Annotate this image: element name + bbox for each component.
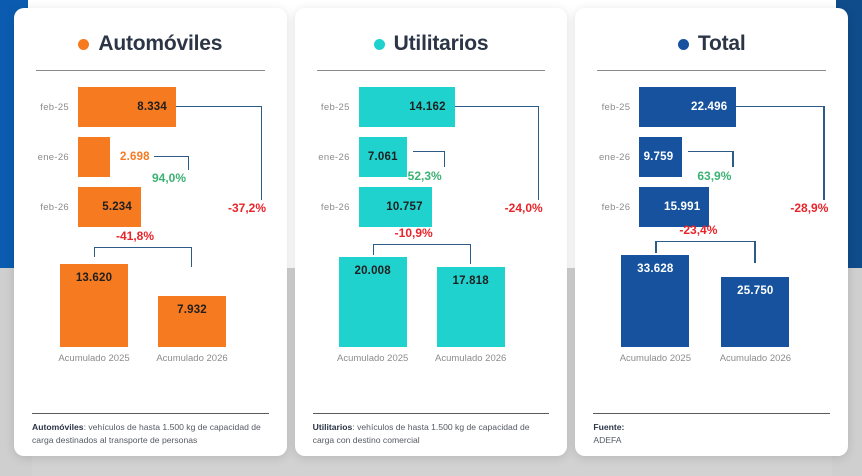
table-row: feb-25 8.334 [32, 87, 176, 127]
connector-line-inner-horizontal [413, 151, 445, 152]
vbar-value: 25.750 [737, 285, 773, 297]
header-divider [36, 70, 265, 71]
hbar-category-label: feb-26 [593, 202, 639, 213]
connector-line-inner-vertical [444, 151, 445, 167]
vbar-value: 17.818 [452, 275, 488, 287]
connector-line-outer-vertical [538, 106, 539, 200]
table-row: feb-26 15.991 [593, 187, 709, 227]
hbar-category-label: feb-25 [313, 102, 359, 113]
footer-spacer [593, 369, 830, 413]
vbar-category-label: Acumulado 2025 [620, 353, 691, 364]
footnote-term: Utilitarios [313, 422, 353, 432]
vbar-category-label: Acumulado 2026 [435, 353, 506, 364]
bullet-dot-icon [78, 39, 89, 50]
vbar-acumulado-2025[interactable]: 13.620 Acumulado 2025 [60, 264, 128, 347]
table-row: ene-26 9.759 [593, 137, 682, 177]
hbar-category-label: ene-26 [593, 152, 639, 163]
hbar-value: 7.061 [368, 151, 398, 163]
footnote-automoviles: Automóviles: vehículos de hasta 1.500 kg… [32, 421, 269, 446]
vbar-acumulado-2025[interactable]: 20.008 Acumulado 2025 [339, 257, 407, 347]
card-header-utilitarios: Utilitarios [313, 22, 550, 66]
connector-line-inner-horizontal [688, 151, 733, 152]
hbar-category-label: feb-25 [593, 102, 639, 113]
hbar-ene-26[interactable]: 2.698 [78, 137, 110, 177]
hbar-feb-26[interactable]: 15.991 [639, 187, 709, 227]
vbar-category-label: Acumulado 2026 [156, 353, 227, 364]
connector-line-outer-vertical [823, 106, 824, 200]
percent-badge-outer: -28,9% [790, 201, 828, 215]
bracket-right-stem [470, 244, 471, 264]
hbar-feb-26[interactable]: 5.234 [78, 187, 141, 227]
page-title: Total [698, 32, 746, 56]
bracket-right-stem [754, 241, 755, 263]
percent-badge-acumulado: -23,4% [679, 223, 717, 237]
vbar-rect: 17.818 [437, 267, 505, 347]
percent-badge-outer: -37,2% [228, 201, 266, 215]
hbar-value: 10.757 [386, 201, 422, 213]
header-divider [317, 70, 546, 71]
hbar-category-label: feb-26 [32, 202, 78, 213]
hbar-ene-26[interactable]: 7.061 [359, 137, 407, 177]
hbar-value: 15.991 [664, 201, 700, 213]
table-row: ene-26 2.698 [32, 137, 110, 177]
percent-badge-outer: -24,0% [505, 201, 543, 215]
table-row: feb-26 10.757 [313, 187, 432, 227]
percent-badge-acumulado: -41,8% [116, 229, 154, 243]
vertical-bar-chart-total: 33.628 Acumulado 2025 25.750 Acumulado 2… [593, 239, 830, 369]
vbar-rect: 25.750 [721, 277, 789, 347]
bracket-left-stem [655, 241, 656, 253]
vbar-category-label: Acumulado 2025 [337, 353, 408, 364]
vbar-acumulado-2026[interactable]: 25.750 Acumulado 2026 [721, 277, 789, 347]
connector-line-outer-horizontal [176, 106, 262, 107]
table-row: feb-25 22.496 [593, 87, 736, 127]
horizontal-bar-chart-utilitarios: feb-25 14.162 ene-26 7.061 feb-26 10.757… [313, 83, 550, 231]
bracket-top-line [94, 247, 192, 248]
footnote-utilitarios: Utilitarios: vehículos de hasta 1.500 kg… [313, 421, 550, 446]
hbar-feb-26[interactable]: 10.757 [359, 187, 432, 227]
bracket-left-stem [373, 244, 374, 255]
page-title: Utilitarios [394, 32, 489, 56]
page-title: Automóviles [98, 32, 222, 56]
connector-line-outer-horizontal [736, 106, 824, 107]
bullet-dot-icon [678, 39, 689, 50]
connector-line-inner-vertical [188, 156, 189, 170]
table-row: feb-25 14.162 [313, 87, 455, 127]
vbar-value: 13.620 [76, 272, 112, 284]
hbar-value: 22.496 [691, 101, 727, 113]
connector-line-outer-vertical [261, 106, 262, 200]
bracket-left-stem [94, 247, 95, 257]
vbar-rect: 7.932 [158, 296, 226, 347]
bracket-right-stem [191, 247, 192, 267]
hbar-value: 9.759 [644, 151, 674, 163]
hbar-category-label: feb-25 [32, 102, 78, 113]
bullet-dot-icon [374, 39, 385, 50]
hbar-feb-25[interactable]: 14.162 [359, 87, 455, 127]
hbar-category-label: ene-26 [32, 152, 78, 163]
card-header-automoviles: Automóviles [32, 22, 269, 66]
hbar-category-label: feb-26 [313, 202, 359, 213]
card-total: Total feb-25 22.496 ene-26 9.759 feb-26 … [575, 8, 848, 456]
hbar-value: 14.162 [409, 101, 445, 113]
vbar-rect: 20.008 [339, 257, 407, 347]
vbar-acumulado-2026[interactable]: 17.818 Acumulado 2026 [437, 267, 505, 347]
vbar-acumulado-2026[interactable]: 7.932 Acumulado 2026 [158, 296, 226, 347]
percent-badge-inner: 52,3% [408, 169, 442, 183]
hbar-feb-25[interactable]: 22.496 [639, 87, 736, 127]
hbar-value: 8.334 [137, 101, 167, 113]
cards-container: Automóviles feb-25 8.334 ene-26 2.698 fe… [0, 0, 862, 476]
bracket-top-line [655, 241, 755, 242]
vbar-value: 7.932 [177, 304, 207, 316]
horizontal-bar-chart-automoviles: feb-25 8.334 ene-26 2.698 feb-26 5.234 [32, 83, 269, 231]
footer-divider [32, 413, 269, 414]
hbar-value: 2.698 [120, 151, 150, 163]
vertical-bar-chart-utilitarios: 20.008 Acumulado 2025 17.818 Acumulado 2… [313, 239, 550, 369]
hbar-ene-26[interactable]: 9.759 [639, 137, 682, 177]
percent-badge-acumulado: -10,9% [395, 226, 433, 240]
connector-line-inner-vertical [732, 151, 733, 167]
hbar-category-label: ene-26 [313, 152, 359, 163]
connector-line-outer-horizontal [455, 106, 539, 107]
vbar-value: 33.628 [637, 263, 673, 275]
footnote-term: Fuente: [593, 422, 624, 432]
header-divider [597, 70, 826, 71]
footnote-total: Fuente: ADEFA [593, 421, 830, 446]
hbar-feb-25[interactable]: 8.334 [78, 87, 176, 127]
footnote-text: ADEFA [593, 435, 621, 445]
footer-divider [593, 413, 830, 414]
bracket-top-line [373, 244, 471, 245]
footer-spacer [32, 369, 269, 413]
vertical-bar-chart-automoviles: 13.620 Acumulado 2025 7.932 Acumulado 20… [32, 239, 269, 369]
table-row: ene-26 7.061 [313, 137, 407, 177]
card-automoviles: Automóviles feb-25 8.334 ene-26 2.698 fe… [14, 8, 287, 456]
table-row: feb-26 5.234 [32, 187, 141, 227]
vbar-acumulado-2025[interactable]: 33.628 Acumulado 2025 [621, 255, 689, 347]
vbar-rect: 13.620 [60, 264, 128, 347]
vbar-rect: 33.628 [621, 255, 689, 347]
percent-badge-inner: 94,0% [152, 171, 186, 185]
connector-line-inner-horizontal [154, 156, 189, 157]
footer-divider [313, 413, 550, 414]
vbar-category-label: Acumulado 2025 [58, 353, 129, 364]
card-header-total: Total [593, 22, 830, 66]
horizontal-bar-chart-total: feb-25 22.496 ene-26 9.759 feb-26 15.991… [593, 83, 830, 231]
vbar-category-label: Acumulado 2026 [720, 353, 791, 364]
vbar-value: 20.008 [354, 265, 390, 277]
percent-badge-inner: 63,9% [697, 169, 731, 183]
footnote-term: Automóviles [32, 422, 84, 432]
hbar-value: 5.234 [102, 201, 132, 213]
card-utilitarios: Utilitarios feb-25 14.162 ene-26 7.061 f… [295, 8, 568, 456]
footer-spacer [313, 369, 550, 413]
